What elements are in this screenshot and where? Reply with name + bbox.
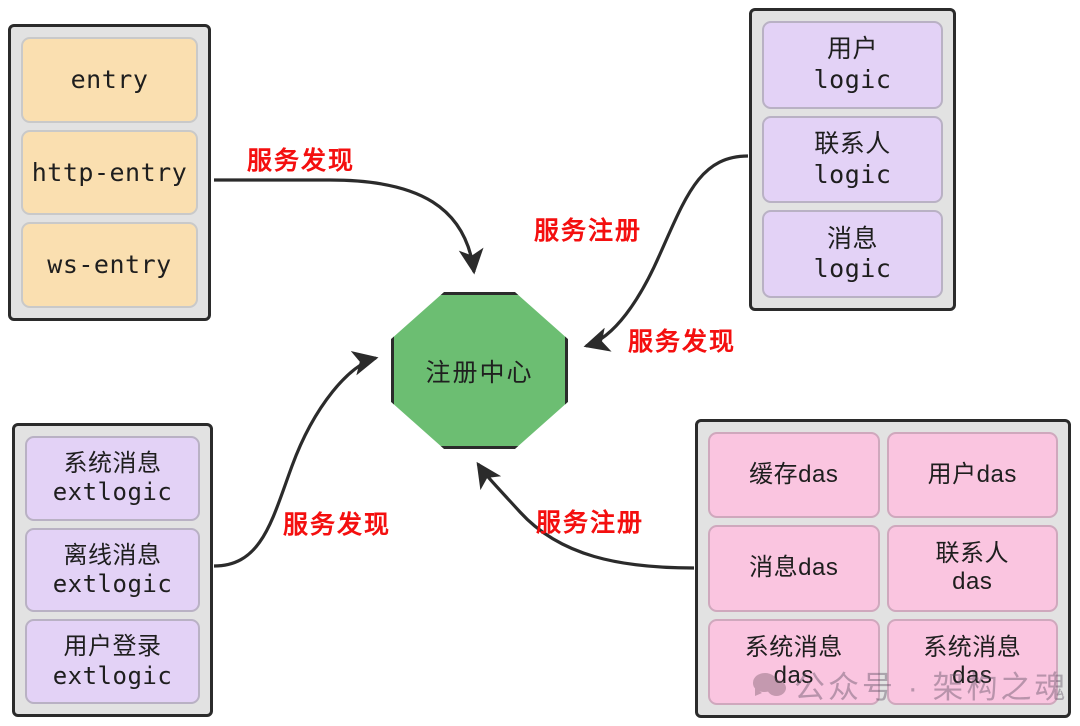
node-http-entry[interactable]: http-entry <box>21 130 198 216</box>
node-contact-das-line2: das <box>952 568 992 596</box>
node-user-logic-line2: logic <box>814 65 892 95</box>
node-message-das-line1: 消息das <box>749 554 838 582</box>
node-ws-entry[interactable]: ws-entry <box>21 222 198 308</box>
node-cache-das[interactable]: 缓存das <box>708 432 880 518</box>
node-sysmsg-das-1-line1: 系统消息 <box>745 634 843 662</box>
node-message-logic-line1: 消息 <box>827 225 878 255</box>
node-message-logic-line2: logic <box>814 254 892 284</box>
node-registry-center[interactable]: 注册中心 <box>391 292 568 449</box>
watermark: 公众号 · 架构之魂 <box>753 662 1069 707</box>
node-userlogin-extlogic[interactable]: 用户登录 extlogic <box>25 619 200 704</box>
node-userlogin-extlogic-line2: extlogic <box>53 662 173 690</box>
group-logic[interactable]: 用户 logic 联系人 logic 消息 logic <box>749 8 956 311</box>
node-contact-das-line1: 联系人 <box>936 540 1010 568</box>
node-message-logic[interactable]: 消息 logic <box>762 210 943 298</box>
node-contact-das[interactable]: 联系人 das <box>887 525 1059 611</box>
diagram-canvas: entry http-entry ws-entry 用户 logic 联系人 l… <box>0 0 1080 726</box>
node-entry[interactable]: entry <box>21 37 198 123</box>
edge-label-service-register-das: 服务注册 <box>536 503 644 539</box>
node-user-logic[interactable]: 用户 logic <box>762 21 943 109</box>
edge-label-service-discovery-entry: 服务发现 <box>247 141 355 177</box>
node-sysmsg-extlogic-line1: 系统消息 <box>64 450 162 478</box>
node-user-das-line1: 用户das <box>928 461 1017 489</box>
node-userlogin-extlogic-line1: 用户登录 <box>64 633 162 661</box>
node-user-logic-line1: 用户 <box>827 35 878 65</box>
edge-label-service-discovery-extlogic: 服务发现 <box>283 505 391 541</box>
edge-label-service-register-logic: 服务注册 <box>534 211 642 247</box>
node-entry-line1: entry <box>71 65 149 95</box>
edge-path-e3 <box>586 156 748 346</box>
node-offlinemsg-extlogic-line2: extlogic <box>53 570 173 598</box>
wechat-icon <box>753 671 787 698</box>
group-entry[interactable]: entry http-entry ws-entry <box>8 24 211 321</box>
node-sysmsg-extlogic[interactable]: 系统消息 extlogic <box>25 436 200 521</box>
node-message-das[interactable]: 消息das <box>708 525 880 611</box>
node-contact-logic-line1: 联系人 <box>814 130 891 160</box>
node-sysmsg-extlogic-line2: extlogic <box>53 478 173 506</box>
node-registry-center-label: 注册中心 <box>425 353 533 389</box>
node-http-entry-line1: http-entry <box>32 158 188 188</box>
node-contact-logic[interactable]: 联系人 logic <box>762 116 943 204</box>
node-user-das[interactable]: 用户das <box>887 432 1059 518</box>
node-offlinemsg-extlogic[interactable]: 离线消息 extlogic <box>25 528 200 613</box>
node-sysmsg-das-2-line1: 系统消息 <box>923 634 1021 662</box>
node-ws-entry-line1: ws-entry <box>47 250 171 280</box>
watermark-text: 公众号 · 架构之魂 <box>794 662 1069 707</box>
group-extlogic[interactable]: 系统消息 extlogic 离线消息 extlogic 用户登录 extlogi… <box>12 423 213 717</box>
node-offlinemsg-extlogic-line1: 离线消息 <box>64 542 162 570</box>
edge-path-e1 <box>214 180 474 272</box>
node-contact-logic-line2: logic <box>814 160 892 190</box>
node-cache-das-line1: 缓存das <box>749 461 838 489</box>
edge-label-service-discovery-logic: 服务发现 <box>628 322 736 358</box>
